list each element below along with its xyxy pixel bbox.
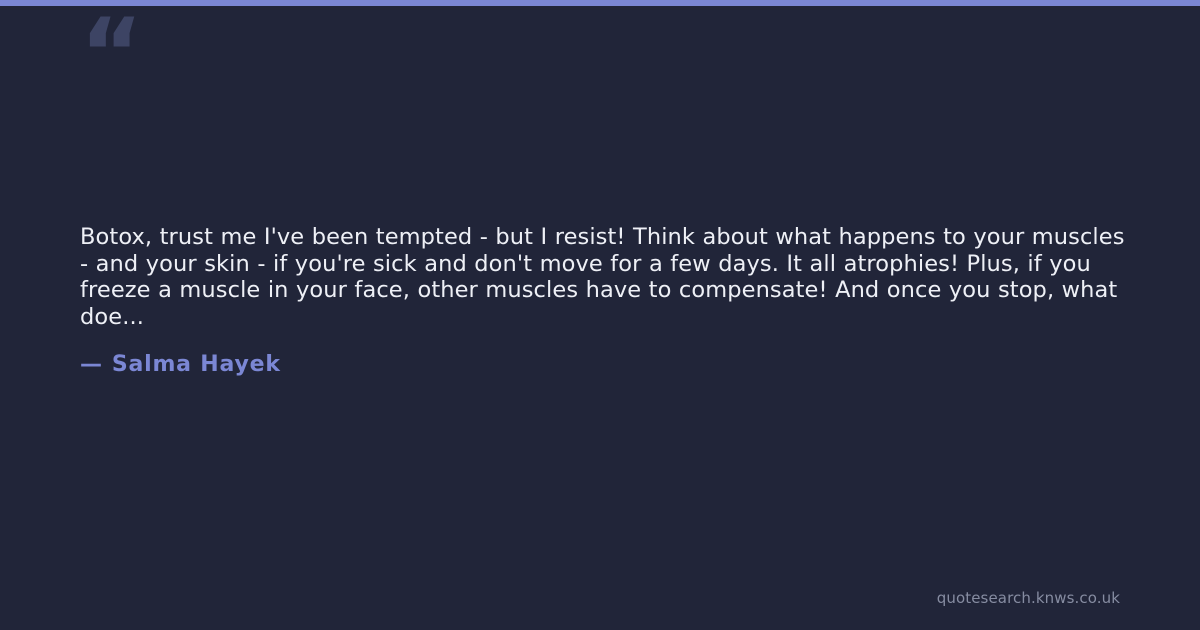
author-dash: —: [80, 352, 103, 377]
top-accent-bar: [0, 0, 1200, 6]
quote-card: “ Botox, trust me I've been tempted - bu…: [0, 0, 1200, 630]
quote-author: —Salma Hayek: [80, 352, 281, 377]
quote-text: Botox, trust me I've been tempted - but …: [80, 224, 1125, 330]
author-name: Salma Hayek: [112, 352, 281, 377]
site-url-footer: quotesearch.knws.co.uk: [937, 589, 1120, 607]
quotation-mark-icon: “: [80, 6, 141, 102]
